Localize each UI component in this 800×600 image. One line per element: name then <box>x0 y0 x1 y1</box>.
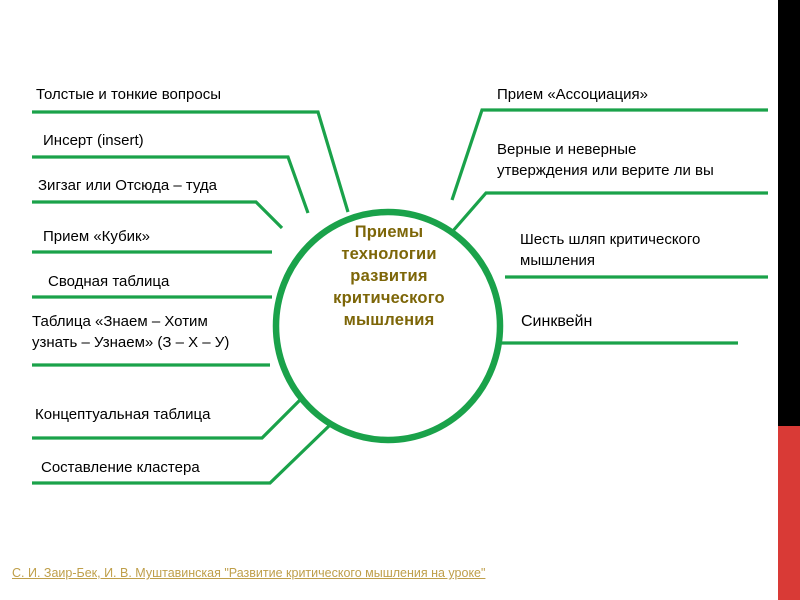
central-line-5: мышления <box>300 310 478 332</box>
branch-label-right-1: Прием «Ассоциация» <box>497 84 648 105</box>
connector-left-3 <box>32 202 282 228</box>
branch-label-left-3: Зигзаг или Отсюда – туда <box>38 175 217 196</box>
branch-label-right-4: Синквейн <box>521 311 592 334</box>
central-concept-label: Приемы технологии развития критического … <box>300 222 478 332</box>
branch-label-left-6: Таблица «Знаем – Хотим узнать – Узнаем» … <box>32 311 229 354</box>
connector-right-2 <box>452 193 768 232</box>
branch-label-left-6-line2: узнать – Узнаем» (З – Х – У) <box>32 332 229 353</box>
branch-label-right-2-line2: утверждения или верите ли вы <box>497 160 714 181</box>
central-line-2: технологии <box>300 244 478 266</box>
edge-bar-red <box>778 426 800 600</box>
branch-label-left-5: Сводная таблица <box>48 271 169 292</box>
branch-label-left-7: Концептуальная таблица <box>35 404 210 425</box>
branch-label-left-8: Составление кластера <box>41 457 200 478</box>
central-line-4: критического <box>300 288 478 310</box>
edge-bar-black <box>778 0 800 426</box>
branch-label-right-3-line2: мышления <box>520 250 700 271</box>
slide-canvas: Толстые и тонкие вопросы Инсерт (insert)… <box>0 0 800 600</box>
source-citation: С. И. Заир-Бек, И. В. Муштавинская "Разв… <box>12 566 485 580</box>
branch-label-right-3-line1: Шесть шляп критического <box>520 229 700 250</box>
branch-label-left-2: Инсерт (insert) <box>43 130 144 151</box>
branch-label-right-3: Шесть шляп критического мышления <box>520 229 700 272</box>
branch-label-left-1: Толстые и тонкие вопросы <box>36 84 221 105</box>
branch-label-left-6-line1: Таблица «Знаем – Хотим <box>32 311 229 332</box>
branch-label-right-2: Верные и неверные утверждения или верите… <box>497 139 714 182</box>
central-line-3: развития <box>300 266 478 288</box>
branch-label-right-2-line1: Верные и неверные <box>497 139 714 160</box>
central-line-1: Приемы <box>300 222 478 244</box>
branch-label-left-4: Прием «Кубик» <box>43 226 150 247</box>
